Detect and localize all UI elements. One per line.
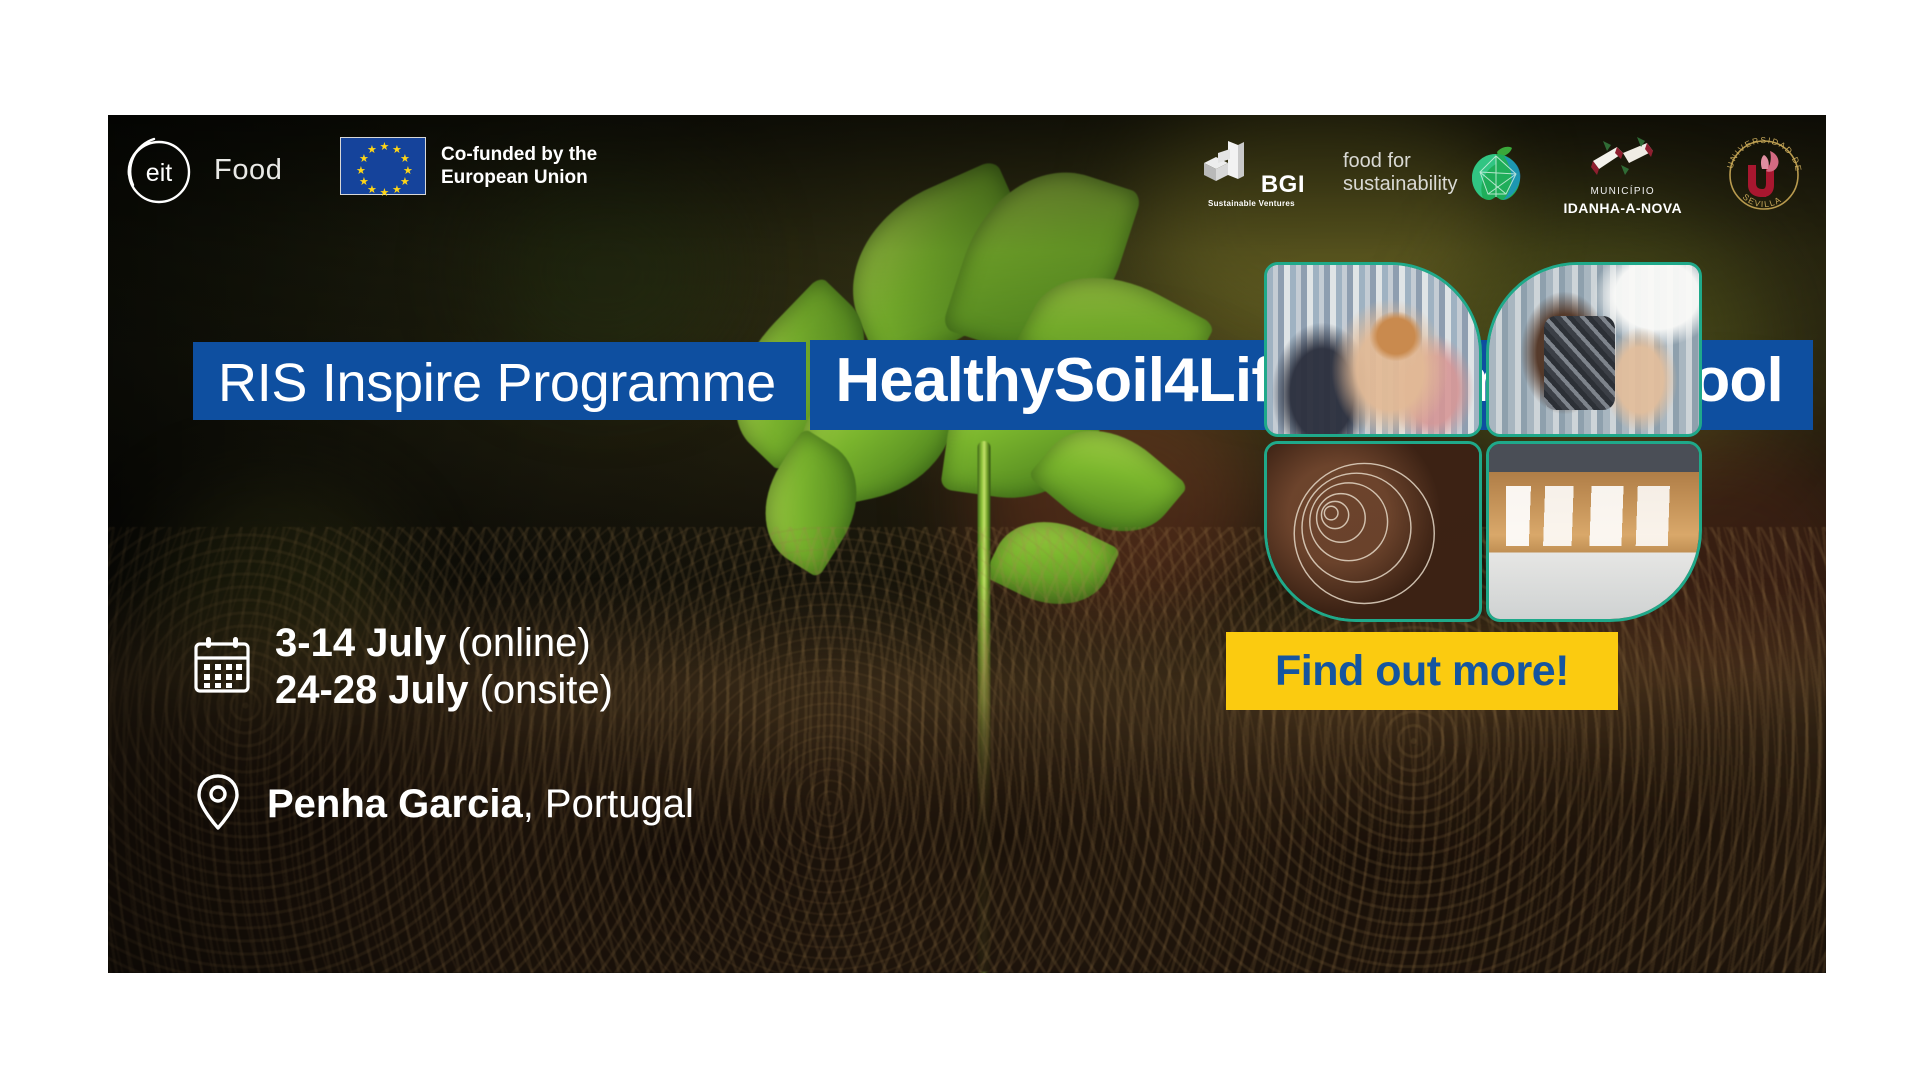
universidad-de-sevilla-icon: UNIVERSIDAD DE SEVILLA [1720, 129, 1808, 217]
idanha-name-label: IDANHA-A-NOVA [1564, 200, 1683, 216]
date-2-mode: (onsite) [480, 668, 613, 712]
logo-bar: eit Food ★ ★ ★ ★ ★ ★ ★ ★ ★ ★ ★ [108, 115, 1826, 265]
promotional-banner: eit Food ★ ★ ★ ★ ★ ★ ★ ★ ★ ★ ★ [108, 115, 1826, 973]
partner-logo-universidad-de-sevilla: UNIVERSIDAD DE SEVILLA [1720, 129, 1808, 217]
collage-cell-students-library-2 [1486, 262, 1702, 437]
collage-cell-students-table [1486, 441, 1702, 622]
dates-row: 3-14 July (online) 24-28 July (onsite) [193, 620, 694, 714]
european-union-flag-icon: ★ ★ ★ ★ ★ ★ ★ ★ ★ ★ ★ ★ [340, 137, 426, 195]
partner-logo-idanha-a-nova: MUNICÍPIO IDANHA-A-NOVA [1564, 131, 1683, 216]
photo-students-library-2 [1489, 265, 1699, 434]
eit-circle-icon: eit [120, 131, 198, 209]
eu-funding-text: Co-funded by the European Union [441, 143, 597, 189]
svg-text:eit: eit [146, 159, 172, 187]
date-line-1: 3-14 July (online) [275, 621, 591, 665]
photo-students-table [1489, 444, 1699, 619]
eu-funding-line-2: European Union [441, 167, 588, 188]
f4s-line-1: food for [1343, 150, 1411, 172]
headline-line-1: RIS Inspire Programme [193, 342, 806, 420]
food-for-sustainability-text: food for sustainability [1343, 150, 1458, 196]
partner-logo-food-for-sustainability: food for sustainability [1343, 142, 1526, 204]
eit-food-logo: eit Food [120, 131, 283, 209]
f4s-line-2: sustainability [1343, 173, 1458, 195]
eit-food-label: Food [214, 154, 283, 187]
date-2-range: 24-28 July [275, 668, 468, 712]
photo-students-library-1 [1267, 265, 1479, 434]
date-1-range: 3-14 July [275, 621, 446, 665]
location-row: Penha Garcia, Portugal [193, 772, 694, 837]
idanha-municipio-label: MUNICÍPIO [1591, 186, 1655, 197]
find-out-more-button[interactable]: Find out more! [1226, 632, 1618, 710]
bgi-mark-icon [1198, 139, 1256, 196]
location-city: Penha Garcia [267, 782, 523, 826]
date-line-2: 24-28 July (onsite) [275, 668, 613, 712]
photo-collage [1264, 262, 1702, 622]
collage-cell-students-library-1 [1264, 262, 1482, 437]
calendar-icon [193, 635, 251, 700]
partner-logos: BGI Sustainable Ventures food for sustai… [1198, 129, 1808, 217]
page-root: eit Food ★ ★ ★ ★ ★ ★ ★ ★ ★ ★ ★ [0, 0, 1920, 1080]
eu-funding-line-1: Co-funded by the [441, 144, 597, 165]
date-1-mode: (online) [457, 621, 590, 665]
eu-funding-logo: ★ ★ ★ ★ ★ ★ ★ ★ ★ ★ ★ ★ Co-funded by the… [340, 137, 597, 195]
bgi-label: BGI [1261, 174, 1305, 196]
partner-logo-bgi: BGI Sustainable Ventures [1198, 139, 1305, 208]
dates-text: 3-14 July (online) 24-28 July (onsite) [275, 620, 613, 714]
apple-icon [1466, 142, 1526, 204]
idanha-books-icon [1587, 131, 1659, 183]
location-country: , Portugal [523, 782, 694, 826]
map-pin-icon [193, 772, 243, 837]
spiral-icon [1267, 444, 1479, 620]
event-details: 3-14 July (online) 24-28 July (onsite) [193, 620, 694, 837]
location-text: Penha Garcia, Portugal [267, 782, 694, 827]
collage-cell-decorative-spiral [1264, 441, 1482, 622]
bgi-tagline: Sustainable Ventures [1208, 199, 1295, 208]
